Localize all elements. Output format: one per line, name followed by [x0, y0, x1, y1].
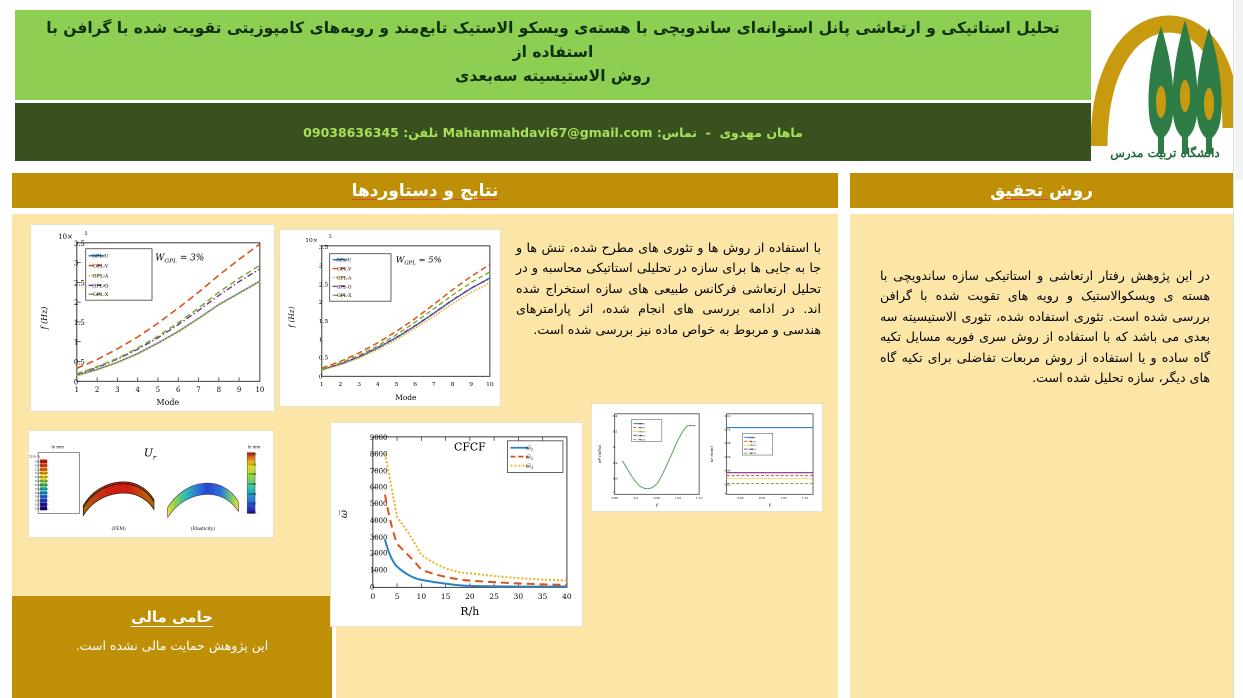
figure-b-xlabel: Mode: [395, 393, 417, 402]
svg-text:20: 20: [465, 592, 475, 601]
svg-text:-0.056: -0.056: [249, 482, 257, 486]
svg-text:2: 2: [319, 299, 323, 306]
svg-text:-5.420e-02: -5.420e-02: [35, 491, 49, 495]
figure-cfcf: 010002000 300040005000 600070008000 9000…: [330, 422, 583, 627]
svg-text:GPL-U: GPL-U: [639, 424, 646, 426]
svg-text:40: 40: [562, 592, 572, 601]
svg-text:GPL-A: GPL-A: [337, 275, 352, 281]
figure-e-right-ylabel: u̅r (mm): [709, 446, 714, 463]
svg-text:2: 2: [339, 381, 343, 388]
svg-text:4000: 4000: [370, 517, 388, 525]
svg-text:-5.520e-02: -5.520e-02: [35, 499, 49, 503]
svg-text:GPL-A: GPL-A: [750, 445, 757, 447]
figure-b-ylabel: f (Hz): [287, 306, 296, 328]
svg-text:GPL-A: GPL-A: [93, 273, 109, 279]
svg-text:-5.220e-02: -5.220e-02: [35, 475, 49, 479]
svg-text:0.5: 0.5: [74, 359, 85, 367]
page-scrollbar-thumb[interactable]: [1235, 0, 1243, 180]
svg-text:GPL-V: GPL-V: [93, 264, 109, 270]
svg-text:25: 25: [489, 592, 499, 601]
svg-text:35: 35: [538, 592, 548, 601]
figure-e-right-legend: GPL-UGPL-VGPL-A GPL-OGPL-X: [742, 433, 772, 455]
svg-text:-0.047: -0.047: [249, 453, 257, 457]
svg-text:3: 3: [74, 260, 78, 268]
poster-author-band: ماهان مهدوی - تماس: Mahanmahdavi67@gmail…: [15, 103, 1091, 161]
figure-c-right-caption: (Elasticity): [191, 527, 216, 532]
svg-text:GPL-X: GPL-X: [93, 292, 109, 298]
svg-text:GPL-U: GPL-U: [336, 258, 351, 264]
svg-text:×10: ×10: [58, 233, 73, 241]
svg-text:1: 1: [319, 337, 323, 344]
svg-text:9000: 9000: [370, 434, 388, 442]
svg-text:GPL-V: GPL-V: [750, 441, 757, 443]
svg-text:-0.053: -0.053: [249, 472, 257, 476]
poster-title: تحلیل استاتیکی و ارتعاشی پانل استوانه‌ای…: [29, 16, 1077, 88]
svg-text:GPL-A: GPL-A: [639, 431, 646, 433]
university-logo-icon: [1091, 6, 1239, 166]
svg-text:0.95: 0.95: [759, 496, 766, 500]
method-paragraph: در این پژوهش رفتار ارتعاشی و استاتیکی سا…: [880, 266, 1210, 388]
poster-author-line: ماهان مهدوی - تماس: Mahanmahdavi67@gmail…: [303, 125, 803, 140]
svg-text:-5.470e-02: -5.470e-02: [35, 495, 49, 499]
svg-text:0: 0: [613, 445, 615, 449]
svg-text:0.10: 0.10: [725, 429, 731, 432]
svg-text:GPL-X: GPL-X: [639, 439, 646, 441]
svg-text:15: 15: [441, 592, 451, 601]
svg-text:0.06: 0.06: [725, 456, 731, 459]
svg-text:7000: 7000: [370, 468, 388, 476]
svg-text:0: 0: [74, 378, 78, 386]
poster-page: تحلیل استاتیکی و ارتعاشی پانل استوانه‌ای…: [0, 0, 1243, 698]
svg-text:1.5: 1.5: [74, 319, 85, 327]
svg-text:GPL-U: GPL-U: [750, 437, 757, 439]
svg-text:0.95: 0.95: [654, 496, 661, 500]
svg-text:2: 2: [95, 386, 99, 394]
svg-text:1: 1: [74, 339, 78, 347]
poster-title-band: تحلیل استاتیکی و ارتعاشی پانل استوانه‌ای…: [15, 10, 1091, 100]
contact-label: تماس:: [657, 125, 697, 140]
svg-text:×10: ×10: [305, 237, 318, 244]
svg-text:30: 30: [514, 592, 524, 601]
svg-text:-5.270e-02: -5.270e-02: [35, 479, 49, 483]
svg-text:0: 0: [370, 592, 375, 601]
svg-text:-5.020e-02: -5.020e-02: [35, 459, 49, 463]
university-logo-caption: دانشگاه تربیت مدرس: [1091, 146, 1239, 160]
sponsor-panel: حامی مالی این پژوهش حمایت مالی نشده است.: [12, 596, 332, 698]
svg-text:-5.570e-02: -5.570e-02: [35, 503, 49, 507]
figure-radial-displacement-contour: Ur In mm U, U2 (CSYS-1) -5.020e-02-5.070…: [28, 430, 274, 538]
svg-text:-0.065: -0.065: [249, 510, 257, 514]
svg-text:6: 6: [176, 386, 180, 394]
svg-text:1: 1: [75, 386, 79, 394]
svg-text:5: 5: [329, 235, 332, 240]
svg-text:9: 9: [237, 386, 241, 394]
svg-text:1.5: 1.5: [319, 318, 329, 325]
svg-text:10: 10: [486, 381, 494, 388]
svg-text:7: 7: [432, 381, 436, 388]
svg-text:GPL-U: GPL-U: [92, 254, 108, 260]
svg-text:1000: 1000: [370, 567, 388, 575]
figure-c-left-colorbar-title: In mm: [52, 445, 65, 450]
svg-text:GPL-V: GPL-V: [639, 428, 646, 430]
svg-text:1.05: 1.05: [675, 496, 682, 500]
svg-text:5: 5: [85, 231, 88, 237]
figure-e-left-legend: GPL-UGPL-VGPL-A GPL-OGPL-X: [631, 420, 661, 442]
figure-c-left-caption: (FEM): [111, 527, 126, 532]
svg-text:8: 8: [217, 386, 221, 394]
figure-frequency-5pct: ×10 5 00.51 1.522.5 33.5 123 456 789 10 …: [279, 229, 501, 407]
svg-text:1: 1: [320, 381, 324, 388]
svg-text:5: 5: [156, 386, 160, 394]
figure-d-legend: ω̅1 ω̅2 ω̅3: [507, 441, 562, 473]
svg-text:-5.170e-02: -5.170e-02: [35, 471, 49, 475]
figure-b-legend: GPL-UGPL-V GPL-AGPL-OGPL-X: [330, 254, 391, 301]
svg-text:10: 10: [255, 386, 264, 394]
section-header-results-label: نتایج و دستاوردها: [352, 181, 499, 201]
svg-text:-0.062: -0.062: [249, 502, 257, 506]
svg-text:4: 4: [135, 386, 140, 394]
svg-text:2.5: 2.5: [74, 279, 85, 287]
figure-stress-displacement-pair: 0.40.20 -0.2-0.6-1 0.800.90.95 1.051.15 …: [591, 403, 823, 512]
svg-text:3.5: 3.5: [74, 240, 85, 248]
svg-text:3: 3: [357, 381, 361, 388]
section-header-method: روش تحقیق: [850, 173, 1233, 208]
section-header-method-label: روش تحقیق: [990, 181, 1093, 201]
svg-text:6000: 6000: [370, 483, 388, 491]
svg-text:0.85: 0.85: [737, 496, 744, 500]
figure-c-left-legend-header: U, U2 (CSYS-1): [29, 455, 40, 459]
figure-d-title: CFCF: [454, 441, 486, 454]
poster-title-line1: تحلیل استاتیکی و ارتعاشی پانل استوانه‌ای…: [46, 19, 1059, 61]
svg-text:2.5: 2.5: [319, 281, 329, 288]
svg-text:3: 3: [115, 386, 119, 394]
author-separator: -: [701, 125, 715, 140]
figure-frequency-3pct: ×10 5 00.5 11.5 22.5 33.5 123 456 789 10: [30, 224, 275, 412]
page-scrollbar[interactable]: [1233, 0, 1243, 698]
poster-title-line2: روش الاستیسیته سه‌بعدی: [455, 67, 651, 85]
svg-text:7: 7: [196, 386, 200, 394]
figure-cfcf-svg: 010002000 300040005000 600070008000 9000…: [331, 423, 582, 626]
figure-frequency-5pct-svg: ×10 5 00.51 1.522.5 33.5 123 456 789 10 …: [280, 230, 500, 406]
svg-text:0: 0: [319, 373, 323, 380]
svg-text:0.5: 0.5: [319, 355, 329, 362]
figure-a-legend: GPL-UGPL-V GPL-AGPL-O GPL-X: [86, 249, 152, 300]
svg-text:0.9: 0.9: [633, 496, 638, 500]
author-name: ماهان مهدوی: [720, 125, 803, 140]
results-paragraph: با استفاده از روش ها و تئوری های مطرح شد…: [516, 238, 821, 340]
svg-text:4: 4: [376, 381, 380, 388]
svg-text:9: 9: [469, 381, 473, 388]
svg-text:0.4: 0.4: [613, 414, 618, 418]
figure-d-xlabel: R/h: [460, 605, 479, 618]
figure-c-right-colorbar-title: In mm: [248, 445, 261, 450]
university-logo: دانشگاه تربیت مدرس: [1091, 6, 1239, 166]
svg-text:-0.6: -0.6: [613, 477, 619, 481]
svg-text:-5.620e-02: -5.620e-02: [35, 507, 49, 511]
svg-text:8: 8: [451, 381, 455, 388]
svg-text:10: 10: [417, 592, 427, 601]
sponsor-title: حامی مالی: [12, 608, 332, 626]
svg-text:3.5: 3.5: [319, 244, 329, 251]
svg-text:GPL-O: GPL-O: [92, 283, 108, 289]
svg-text:0.08: 0.08: [725, 442, 731, 445]
figure-frequency-3pct-svg: ×10 5 00.5 11.5 22.5 33.5 123 456 789 10: [31, 225, 274, 411]
figure-e-svg: 0.40.20 -0.2-0.6-1 0.800.90.95 1.051.15 …: [592, 404, 822, 511]
svg-text:1.05: 1.05: [780, 496, 787, 500]
figure-a-annotation: WGPL = 3%: [155, 254, 204, 265]
svg-text:2000: 2000: [370, 550, 388, 558]
author-phone: 09038636345: [303, 125, 399, 140]
svg-text:5: 5: [395, 592, 400, 601]
svg-text:-0.059: -0.059: [249, 492, 257, 496]
svg-text:GPL-X: GPL-X: [337, 293, 352, 299]
svg-text:5000: 5000: [370, 500, 388, 508]
svg-text:1.15: 1.15: [696, 496, 703, 500]
figure-a-xlabel: Mode: [157, 398, 180, 407]
svg-text:-0.2: -0.2: [613, 461, 619, 465]
svg-text:1.15: 1.15: [802, 496, 809, 500]
svg-text:5: 5: [395, 381, 399, 388]
svg-text:6: 6: [413, 381, 417, 388]
figure-a-ylabel: f (Hz): [40, 307, 49, 331]
svg-text:GPL-O: GPL-O: [639, 435, 646, 437]
sponsor-body: این پژوهش حمایت مالی نشده است.: [12, 638, 332, 653]
svg-text:GPL-X: GPL-X: [750, 453, 757, 455]
svg-text:3: 3: [319, 263, 323, 270]
top-spacer: [0, 0, 1243, 6]
svg-text:-5.070e-02: -5.070e-02: [35, 463, 49, 467]
svg-text:GPL-O: GPL-O: [337, 284, 352, 290]
svg-text:0.2: 0.2: [613, 429, 618, 433]
section-header-results: نتایج و دستاوردها: [12, 173, 838, 208]
svg-text:-5.370e-02: -5.370e-02: [35, 487, 49, 491]
svg-text:2: 2: [74, 299, 78, 307]
phone-label: تلفن:: [403, 125, 438, 140]
figure-e-left-ylabel: σθ (MPa): [597, 445, 602, 464]
svg-text:0.12: 0.12: [725, 415, 731, 418]
svg-text:-1: -1: [613, 490, 616, 494]
figure-contour-svg: Ur In mm U, U2 (CSYS-1) -5.020e-02-5.070…: [29, 431, 273, 537]
svg-text:-5.320e-02: -5.320e-02: [35, 483, 49, 487]
figure-d-ylabel: ω̅: [339, 510, 350, 518]
author-email[interactable]: Mahanmahdavi67@gmail.com: [443, 125, 653, 140]
svg-text:-5.120e-02: -5.120e-02: [35, 467, 49, 471]
svg-text:0.80: 0.80: [611, 496, 618, 500]
svg-text:GPL-O: GPL-O: [750, 449, 757, 451]
svg-text:GPL-V: GPL-V: [337, 267, 352, 273]
svg-text:-0.050: -0.050: [249, 462, 257, 466]
